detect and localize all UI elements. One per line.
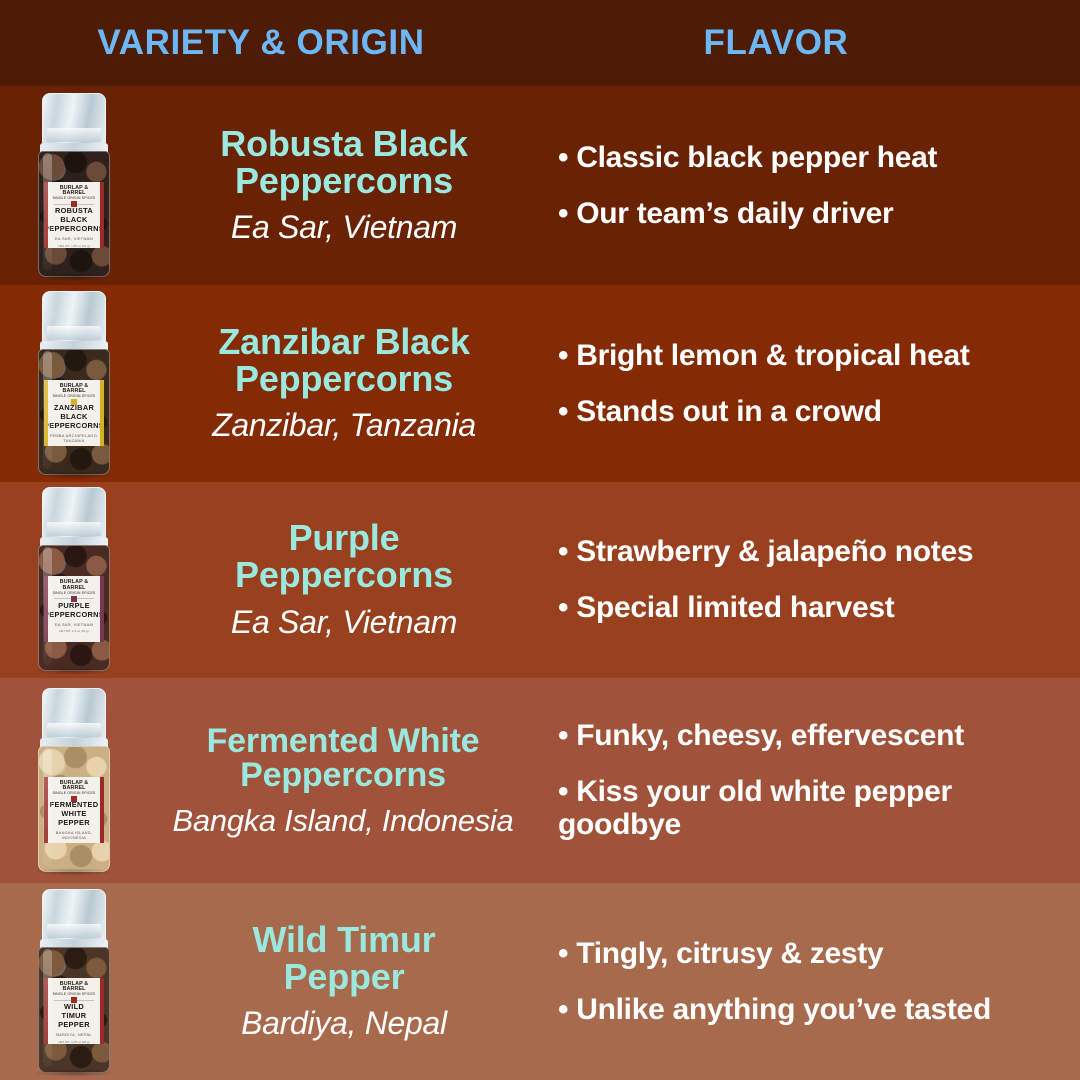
flavor-cell: • Bright lemon & tropical heat• Stands o… (540, 285, 1080, 482)
bottle-body: BURLAP & BARREL SINGLE ORIGIN SPICES PUR… (38, 545, 110, 671)
bottle-label: BURLAP & BARREL SINGLE ORIGIN SPICES WIL… (44, 978, 104, 1044)
bottle-label-origin: BANGKA ISLAND, INDONESIA (48, 830, 100, 840)
header-cell-variety: VARIETY & ORIGIN (0, 0, 540, 86)
variety-name: Wild Timur Pepper (252, 922, 435, 995)
bottle-body: BURLAP & BARREL SINGLE ORIGIN SPICES FER… (38, 746, 110, 872)
bottle-shadow (33, 471, 115, 479)
flavor-bullet-2: • Special limited harvest (558, 591, 1066, 625)
bottle-brand-name: BURLAP & BARREL SINGLE ORIGIN SPICES (48, 580, 100, 596)
table-row-2: BURLAP & BARREL SINGLE ORIGIN SPICES ZAN… (0, 285, 1080, 482)
table-body: BURLAP & BARREL SINGLE ORIGIN SPICES ROB… (0, 86, 1080, 1080)
product-image-cell: BURLAP & BARREL SINGLE ORIGIN SPICES ROB… (0, 86, 148, 285)
variety-origin: Ea Sar, Vietnam (231, 211, 457, 245)
bottle-cap-icon (42, 291, 106, 343)
bottle-label-product-name: PURPLE PEPPERCORNS (44, 601, 104, 619)
bottle-shadow (33, 1069, 115, 1077)
label-divider-icon (54, 598, 95, 599)
bottle-shadow (33, 273, 115, 281)
product-image-cell: BURLAP & BARREL SINGLE ORIGIN SPICES ZAN… (0, 285, 148, 482)
bottle-cap-icon (42, 93, 106, 145)
bottle-brand-name: BURLAP & BARREL SINGLE ORIGIN SPICES (48, 384, 100, 400)
variety-origin: Bardiya, Nepal (241, 1007, 447, 1041)
bottle-shadow (33, 667, 115, 675)
bottle-label-origin: EA SAR, VIETNAM (55, 622, 93, 627)
product-image-cell: BURLAP & BARREL SINGLE ORIGIN SPICES WIL… (0, 883, 148, 1080)
header-cell-flavor: FLAVOR (540, 0, 1080, 86)
variety-origin-cell: Wild Timur Pepper Bardiya, Nepal (148, 883, 540, 1080)
bottle-label-net-weight: NET WT. 1.05 oz (30 g) (58, 1040, 89, 1044)
bottle-label: BURLAP & BARREL SINGLE ORIGIN SPICES FER… (44, 777, 104, 843)
label-divider-icon (54, 1000, 95, 1001)
bottle-label-net-weight: NET WT. 1.9 oz (54 g) (59, 629, 89, 633)
bottle-label-net-weight: NET WT. 1.55 oz (44 g) (58, 244, 89, 248)
variety-origin: Zanzibar, Tanzania (212, 409, 476, 443)
flavor-cell: • Classic black pepper heat• Our team’s … (540, 86, 1080, 285)
variety-origin-cell: Fermented White Peppercorns Bangka Islan… (148, 678, 540, 883)
bottle-brand-name: BURLAP & BARREL SINGLE ORIGIN SPICES (48, 781, 100, 797)
flavor-bullet-1: • Classic black pepper heat (558, 141, 1066, 175)
bottle-body: BURLAP & BARREL SINGLE ORIGIN SPICES ZAN… (38, 349, 110, 475)
variety-name: Robusta Black Peppercorns (220, 126, 467, 199)
product-image-cell: BURLAP & BARREL SINGLE ORIGIN SPICES PUR… (0, 482, 148, 678)
flavor-bullet-2: • Unlike anything you’ve tasted (558, 993, 1066, 1027)
bottle-label: BURLAP & BARREL SINGLE ORIGIN SPICES ROB… (44, 182, 104, 248)
bottle-label: BURLAP & BARREL SINGLE ORIGIN SPICES PUR… (44, 576, 104, 642)
bottle-label-origin: EA SAR, VIETNAM (55, 236, 93, 241)
bottle-label: BURLAP & BARREL SINGLE ORIGIN SPICES ZAN… (44, 380, 104, 446)
flavor-cell: • Tingly, citrusy & zesty• Unlike anythi… (540, 883, 1080, 1080)
flavor-bullet-2: • Our team’s daily driver (558, 197, 1066, 231)
comparison-table: VARIETY & ORIGIN FLAVOR BURLAP & BARREL … (0, 0, 1080, 1080)
variety-name: Zanzibar Black Peppercorns (218, 324, 469, 397)
variety-name: Fermented White Peppercorns (207, 724, 480, 793)
bottle-label-product-name: ZANZIBAR BLACK PEPPERCORNS (44, 403, 104, 430)
bottle-body: BURLAP & BARREL SINGLE ORIGIN SPICES ROB… (38, 151, 110, 277)
variety-origin-cell: Purple Peppercorns Ea Sar, Vietnam (148, 482, 540, 678)
spice-grinder-bottle-image: BURLAP & BARREL SINGLE ORIGIN SPICES ZAN… (31, 291, 117, 477)
column-header-flavor: FLAVOR (704, 23, 849, 63)
bottle-brand-name: BURLAP & BARREL SINGLE ORIGIN SPICES (48, 186, 100, 202)
bottle-label-product-name: FERMENTED WHITE PEPPER (50, 800, 99, 827)
flavor-bullet-1: • Tingly, citrusy & zesty (558, 937, 1066, 971)
spice-grinder-bottle-image: BURLAP & BARREL SINGLE ORIGIN SPICES ROB… (31, 93, 117, 279)
flavor-bullet-1: • Funky, cheesy, effervescent (558, 719, 1066, 753)
table-row-5: BURLAP & BARREL SINGLE ORIGIN SPICES WIL… (0, 883, 1080, 1080)
label-divider-icon (54, 204, 95, 205)
spice-grinder-bottle-image: BURLAP & BARREL SINGLE ORIGIN SPICES WIL… (31, 889, 117, 1075)
bottle-cap-icon (42, 688, 106, 740)
product-image-cell: BURLAP & BARREL SINGLE ORIGIN SPICES FER… (0, 678, 148, 883)
flavor-bullet-1: • Strawberry & jalapeño notes (558, 535, 1066, 569)
variety-origin-cell: Robusta Black Peppercorns Ea Sar, Vietna… (148, 86, 540, 285)
flavor-cell: • Funky, cheesy, effervescent• Kiss your… (540, 678, 1080, 883)
variety-origin: Ea Sar, Vietnam (231, 606, 457, 640)
flavor-bullet-2: • Stands out in a crowd (558, 395, 1066, 429)
table-header-row: VARIETY & ORIGIN FLAVOR (0, 0, 1080, 86)
variety-name: Purple Peppercorns (235, 520, 453, 593)
bottle-label-origin: BARDIYA, NEPAL (56, 1032, 92, 1037)
table-row-3: BURLAP & BARREL SINGLE ORIGIN SPICES PUR… (0, 482, 1080, 678)
column-header-variety-origin: VARIETY & ORIGIN (97, 23, 424, 63)
spice-grinder-bottle-image: BURLAP & BARREL SINGLE ORIGIN SPICES FER… (31, 688, 117, 874)
bottle-body: BURLAP & BARREL SINGLE ORIGIN SPICES WIL… (38, 947, 110, 1073)
bottle-cap-icon (42, 889, 106, 941)
bottle-label-origin: PEMBA ARCHIPELAGO, TANZANIA (48, 433, 100, 443)
bottle-brand-name: BURLAP & BARREL SINGLE ORIGIN SPICES (48, 982, 100, 998)
table-row-1: BURLAP & BARREL SINGLE ORIGIN SPICES ROB… (0, 86, 1080, 285)
variety-origin: Bangka Island, Indonesia (173, 805, 514, 838)
variety-origin-cell: Zanzibar Black Peppercorns Zanzibar, Tan… (148, 285, 540, 482)
bottle-shadow (33, 868, 115, 876)
flavor-bullet-1: • Bright lemon & tropical heat (558, 339, 1066, 373)
bottle-label-product-name: WILD TIMUR PEPPER (58, 1002, 90, 1029)
table-row-4: BURLAP & BARREL SINGLE ORIGIN SPICES FER… (0, 678, 1080, 883)
flavor-cell: • Strawberry & jalapeño notes• Special l… (540, 482, 1080, 678)
bottle-cap-icon (42, 487, 106, 539)
spice-grinder-bottle-image: BURLAP & BARREL SINGLE ORIGIN SPICES PUR… (31, 487, 117, 673)
flavor-bullet-2: • Kiss your old white pepper goodbye (558, 775, 1066, 842)
bottle-label-product-name: ROBUSTA BLACK PEPPERCORNS (44, 206, 104, 233)
